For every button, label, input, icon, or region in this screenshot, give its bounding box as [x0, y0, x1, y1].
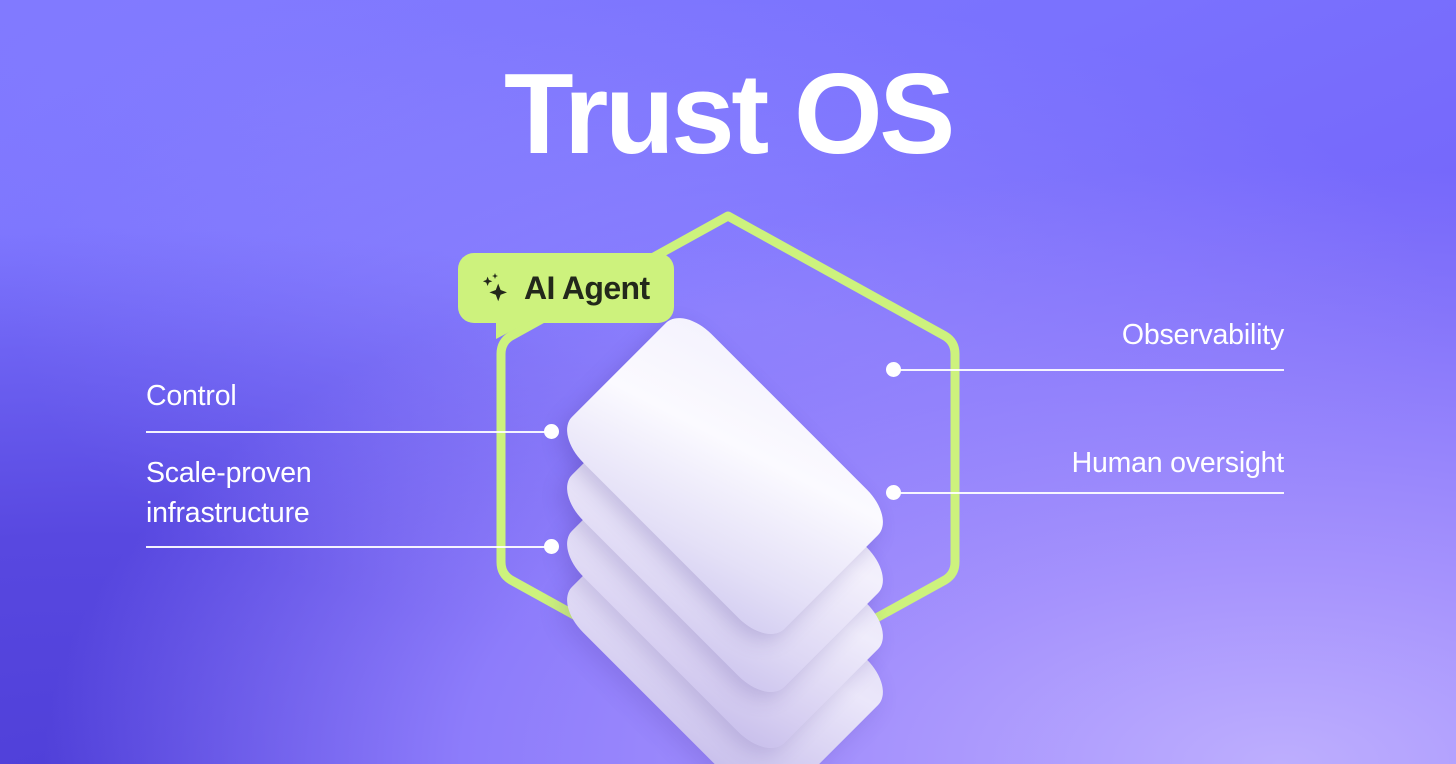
- callout-label-line-2: infrastructure: [146, 493, 312, 533]
- ai-agent-badge-label: AI Agent: [524, 270, 650, 307]
- callout-line-scale-proven-infrastructure: [146, 546, 554, 548]
- sparkle-icon: [480, 271, 514, 305]
- callout-label-observability: Observability: [1122, 315, 1284, 355]
- callout-line-observability: [893, 369, 1284, 371]
- trust-os-hero: Trust OS AI Agent Control Scale-proven i: [0, 0, 1456, 764]
- callout-label-control: Control: [146, 376, 236, 416]
- callout-label-line-1: Scale-proven: [146, 453, 312, 493]
- badge-tail: [496, 321, 530, 339]
- callout-label-human-oversight: Human oversight: [1072, 443, 1284, 483]
- ai-agent-badge[interactable]: AI Agent: [458, 253, 674, 323]
- callout-dot-scale-proven-infrastructure: [544, 539, 559, 554]
- page-title: Trust OS: [0, 58, 1456, 172]
- callout-dot-control: [544, 424, 559, 439]
- callout-line-control: [146, 431, 554, 433]
- callout-label-scale-proven-infrastructure: Scale-proven infrastructure: [146, 453, 312, 534]
- callout-line-human-oversight: [893, 492, 1284, 494]
- callout-dot-observability: [886, 362, 901, 377]
- callout-dot-human-oversight: [886, 485, 901, 500]
